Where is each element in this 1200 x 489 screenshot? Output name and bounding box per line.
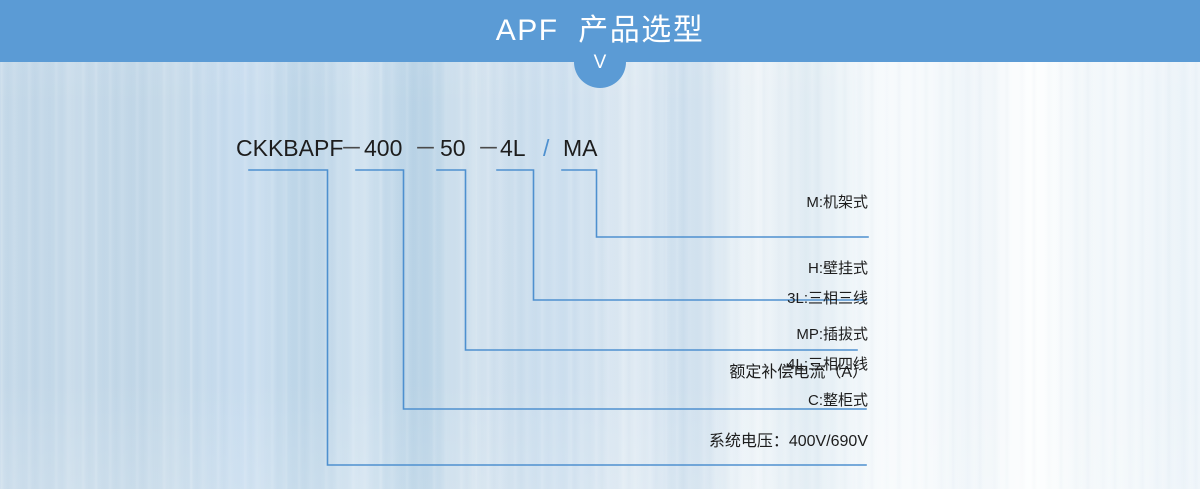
model-code-mounting: MA — [563, 131, 598, 165]
callout-mounting-line-1: M:机架式 — [796, 192, 868, 214]
leader-lines — [0, 0, 1200, 489]
model-code-dash-2: － — [414, 131, 437, 165]
callout-brand: 库克库伯品牌 — [772, 441, 868, 489]
callout-wiring-line-1: 3L:三相三线 — [787, 288, 868, 310]
model-code-voltage: 400 — [364, 131, 402, 165]
model-code-row: CKKBAPF － 400 － 50 － 4L / MA — [0, 131, 1200, 165]
model-code-brand: CKKBAPF — [236, 131, 343, 165]
model-code-dash-1: － — [340, 131, 363, 165]
model-code-dash-3: － — [477, 131, 500, 165]
model-code-wiring: 4L — [500, 131, 526, 165]
model-code-slash: / — [543, 131, 549, 165]
apf-model-selection-diagram: APF 产品选型 V CKKBAPF － 400 － 50 － 4L / MA … — [0, 0, 1200, 489]
model-code-current: 50 — [440, 131, 466, 165]
